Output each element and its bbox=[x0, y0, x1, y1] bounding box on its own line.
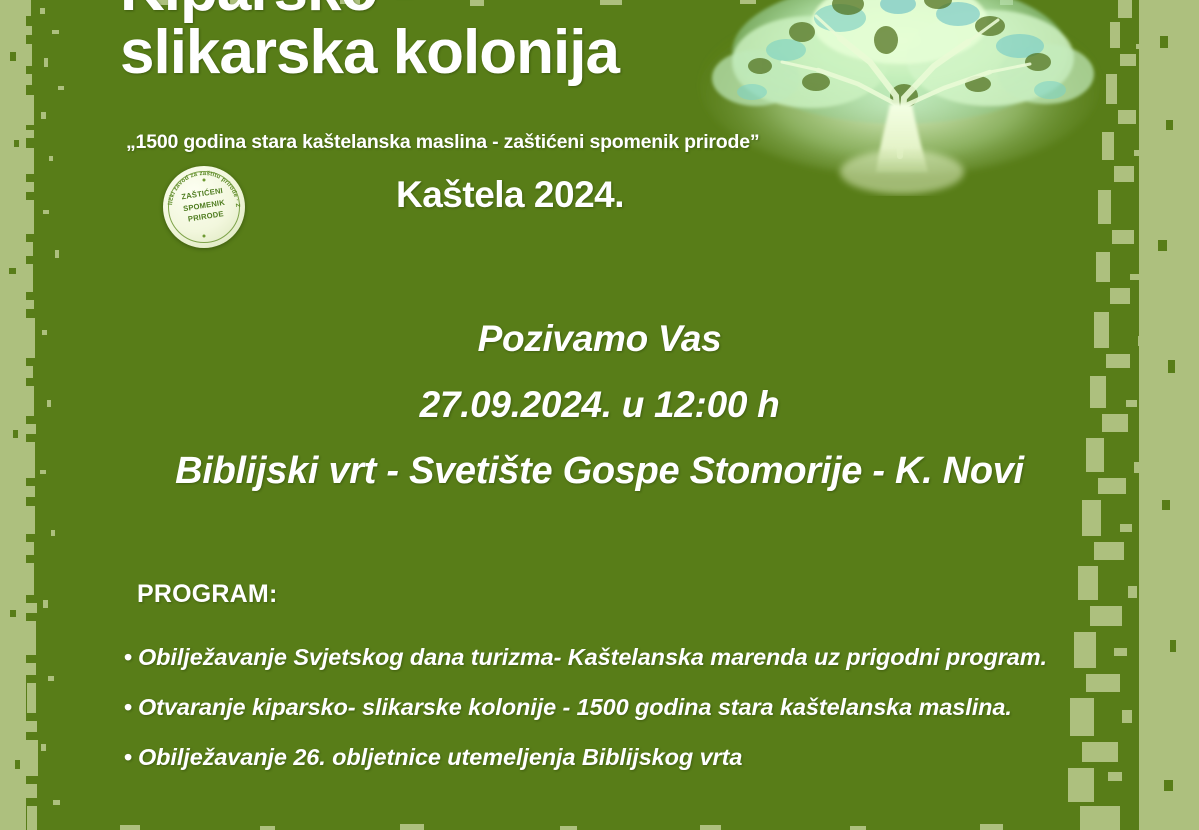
title-line-2: slikarska kolonija bbox=[120, 21, 740, 84]
program-heading: PROGRAM: bbox=[137, 580, 1117, 609]
bullet-icon: • bbox=[124, 694, 138, 721]
invitation-line-2: 27.09.2024. u 12:00 h bbox=[0, 384, 1199, 426]
program-item: •Obilježavanje Svjetskog dana turizma- K… bbox=[124, 644, 1117, 671]
program-item-label: Obilježavanje Svjetskog dana turizma- Ka… bbox=[138, 644, 1047, 670]
poster-canvas: Kiparsko - slikarska kolonija „1500 godi… bbox=[0, 0, 1199, 830]
program-list: •Obilježavanje Svjetskog dana turizma- K… bbox=[124, 644, 1117, 771]
program-item-label: Obilježavanje 26. obljetnice utemeljenja… bbox=[138, 744, 742, 770]
place-and-year: Kaštela 2024. bbox=[396, 174, 624, 216]
protected-monument-seal: Republički zavod za zaštitu prirode · Za… bbox=[163, 166, 245, 248]
poster-subtitle: „1500 godina stara kaštelanska maslina -… bbox=[126, 131, 759, 154]
bullet-icon: • bbox=[124, 744, 138, 771]
poster-title: Kiparsko - slikarska kolonija bbox=[120, 0, 740, 84]
program-block: PROGRAM: •Obilježavanje Svjetskog dana t… bbox=[137, 580, 1117, 794]
program-item: •Obilježavanje 26. obljetnice utemeljenj… bbox=[124, 744, 1117, 771]
bullet-icon: • bbox=[124, 644, 138, 671]
invitation-line-3: Biblijski vrt - Svetište Gospe Stomorije… bbox=[0, 450, 1199, 493]
program-item: •Otvaranje kiparsko- slikarske kolonije … bbox=[124, 694, 1117, 721]
invitation-block: Pozivamo Vas 27.09.2024. u 12:00 h Bibli… bbox=[0, 318, 1199, 493]
program-item-label: Otvaranje kiparsko- slikarske kolonije -… bbox=[138, 694, 1012, 720]
invitation-line-1: Pozivamo Vas bbox=[0, 318, 1199, 360]
